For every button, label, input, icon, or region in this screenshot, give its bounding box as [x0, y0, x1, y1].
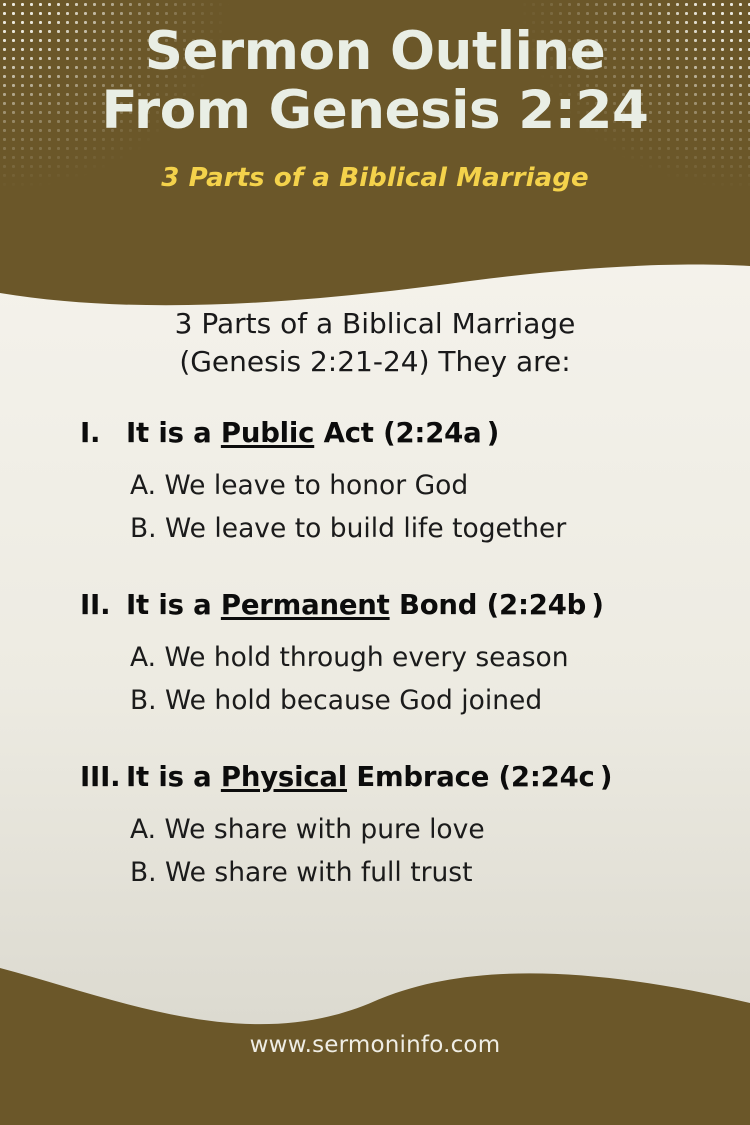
footer-website-url[interactable]: www.sermoninfo.com [250, 1032, 501, 1058]
outline-point-title-before: It is a [126, 761, 221, 793]
outline-point: III. It is a Physical Embrace (2:24c ) A… [0, 761, 750, 895]
outline-subpoint: B. We leave to build life together [130, 508, 750, 551]
sermon-outline-poster: Sermon Outline From Genesis 2:24 3 Parts… [0, 0, 750, 1125]
outline-point-heading: III. It is a Physical Embrace (2:24c ) [0, 761, 750, 793]
outline-point-title-after: Act (2:24a ) [314, 417, 499, 449]
intro-line-2: (Genesis 2:21-24) They are: [95, 343, 655, 381]
outline-subpoints-list: A. We leave to honor God B. We leave to … [0, 465, 750, 551]
outline-point-title-after: Embrace (2:24c ) [347, 761, 612, 793]
outline-subpoint: B. We hold because God joined [130, 680, 750, 723]
outline-point: II. It is a Permanent Bond (2:24b ) A. W… [0, 589, 750, 723]
outline-subpoint: A. We share with pure love [130, 809, 750, 852]
outline-subpoints-list: A. We hold through every season B. We ho… [0, 637, 750, 723]
outline-point-keyword: Permanent [221, 589, 390, 621]
outline-point-title: It is a Physical Embrace (2:24c ) [126, 761, 612, 793]
outline-point-title: It is a Public Act (2:24a ) [126, 417, 499, 449]
outline-point-title-before: It is a [126, 417, 221, 449]
outline-point-title-before: It is a [126, 589, 221, 621]
outline-content: 3 Parts of a Biblical Marriage (Genesis … [0, 305, 750, 895]
outline-point-keyword: Public [221, 417, 314, 449]
outline-subpoint: B. We share with full trust [130, 852, 750, 895]
outline-point-heading: I. It is a Public Act (2:24a ) [0, 417, 750, 449]
outline-subpoint: A. We hold through every season [130, 637, 750, 680]
outline-point: I. It is a Public Act (2:24a ) A. We lea… [0, 417, 750, 551]
outline-subpoint: A. We leave to honor God [130, 465, 750, 508]
footer-band: www.sermoninfo.com [0, 1000, 750, 1125]
outline-point-heading: II. It is a Permanent Bond (2:24b ) [0, 589, 750, 621]
outline-subpoints-list: A. We share with pure love B. We share w… [0, 809, 750, 895]
outline-point-keyword: Physical [221, 761, 347, 793]
intro-text: 3 Parts of a Biblical Marriage (Genesis … [95, 305, 655, 381]
outline-points-list: I. It is a Public Act (2:24a ) A. We lea… [0, 417, 750, 895]
outline-point-numeral: II. [80, 589, 126, 621]
outline-point-numeral: III. [80, 761, 126, 793]
outline-point-numeral: I. [80, 417, 126, 449]
outline-point-title-after: Bond (2:24b ) [390, 589, 604, 621]
intro-line-1: 3 Parts of a Biblical Marriage [95, 305, 655, 343]
outline-point-title: It is a Permanent Bond (2:24b ) [126, 589, 604, 621]
